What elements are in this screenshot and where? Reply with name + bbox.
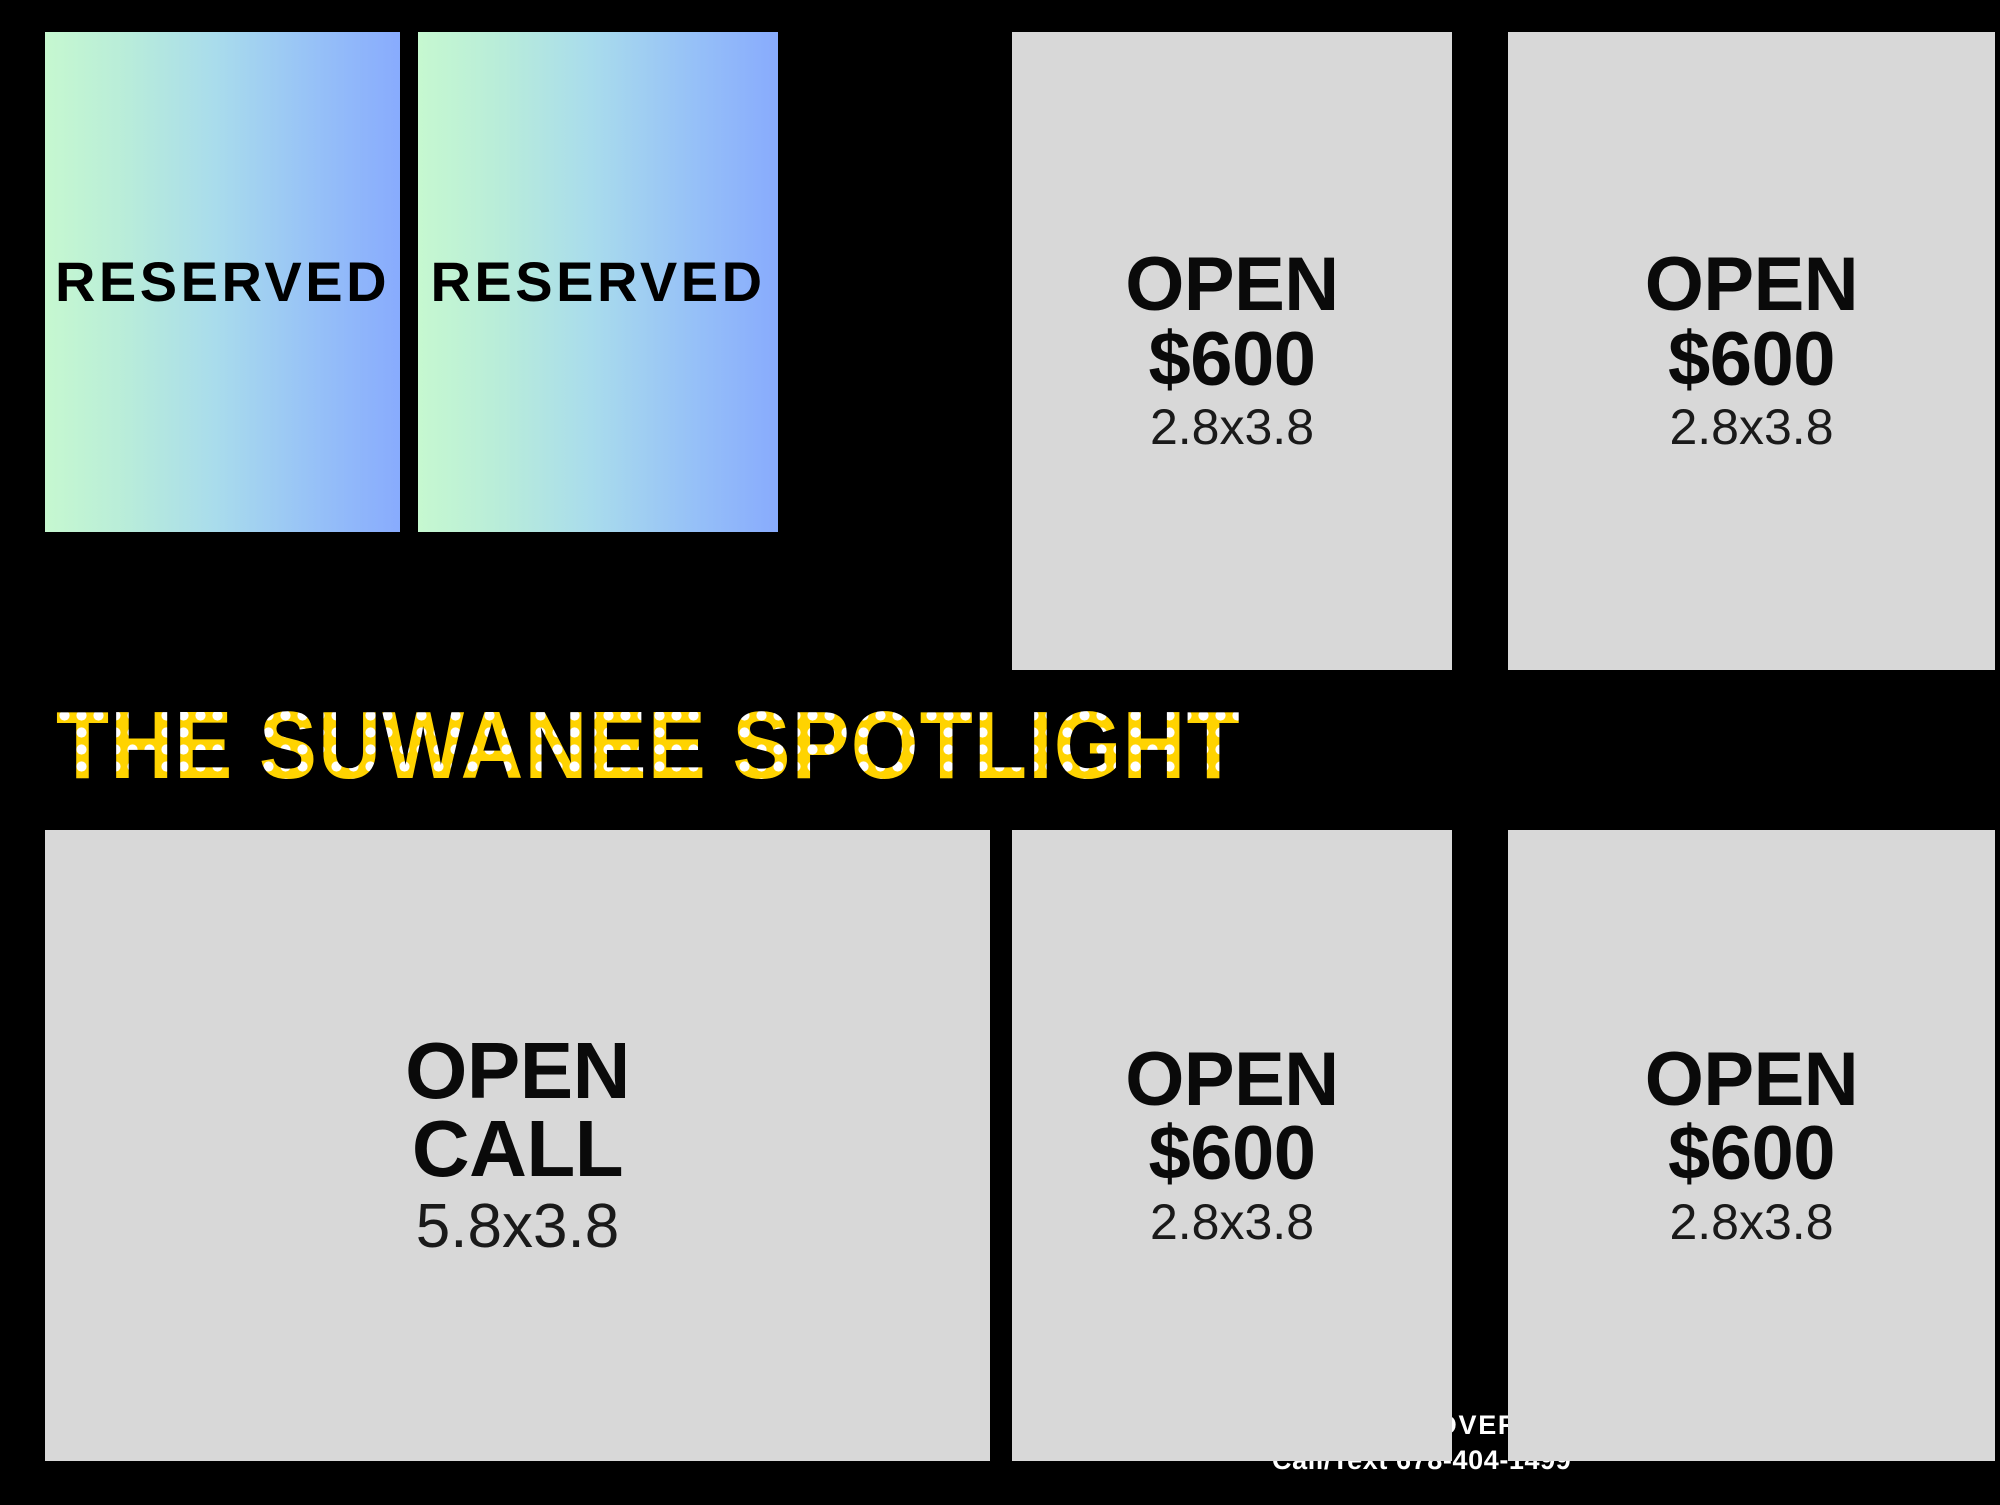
open-label: OPEN (405, 1032, 630, 1110)
reserved-label: RESERVED (55, 253, 390, 312)
call-label: CALL (412, 1110, 623, 1188)
size-label: 5.8x3.8 (416, 1194, 619, 1259)
ad-slot-bottom-2[interactable]: OPEN $600 2.8x3.8 (1012, 830, 1452, 1461)
ad-slot-top-1[interactable]: RESERVED (45, 32, 400, 532)
ad-rate-card: RESERVED RESERVED OPEN $600 2.8x3.8 OPEN… (0, 0, 2000, 1505)
size-label: 2.8x3.8 (1150, 1196, 1314, 1249)
open-label: OPEN (1125, 248, 1338, 322)
masthead: THE SUWANEE SPOTLIGHT WANT TO ADVERTISE?… (0, 690, 2000, 810)
size-label: 2.8x3.8 (1669, 1196, 1833, 1249)
ad-slot-bottom-3[interactable]: OPEN $600 2.8x3.8 (1508, 830, 1995, 1461)
price-label: $600 (1668, 323, 1835, 397)
ad-slot-bottom-1[interactable]: OPEN CALL 5.8x3.8 (45, 830, 990, 1461)
ad-slot-top-3[interactable]: OPEN $600 2.8x3.8 (1012, 32, 1452, 670)
size-label: 2.8x3.8 (1669, 401, 1833, 454)
size-label: 2.8x3.8 (1150, 401, 1314, 454)
open-label: OPEN (1645, 1043, 1858, 1117)
price-label: $600 (1668, 1117, 1835, 1191)
page-title: THE SUWANEE SPOTLIGHT (56, 690, 1246, 802)
open-label: OPEN (1645, 248, 1858, 322)
price-label: $600 (1148, 1117, 1315, 1191)
ad-slot-top-2[interactable]: RESERVED (418, 32, 778, 532)
price-label: $600 (1148, 323, 1315, 397)
ad-slot-top-4[interactable]: OPEN $600 2.8x3.8 (1508, 32, 1995, 670)
open-label: OPEN (1125, 1043, 1338, 1117)
reserved-label: RESERVED (430, 253, 765, 312)
